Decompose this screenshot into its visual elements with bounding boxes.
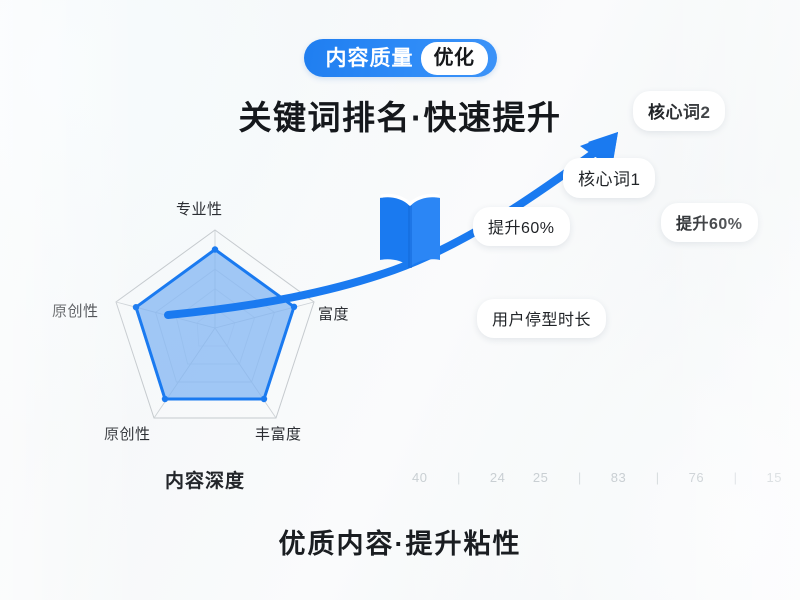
metric-value-1: 40 [412, 470, 427, 485]
radar-point [162, 396, 168, 402]
metric-strip: 40 | 24 25 | 83 | 76 | 15 [412, 466, 782, 488]
metric-value-2: 24 [490, 470, 505, 485]
metric-value-6: 15 [767, 470, 782, 485]
metric-tick-4: | [732, 470, 739, 485]
callout-uplift-right[interactable]: 提升60% [661, 203, 758, 242]
footer-title: 优质内容·提升粘性 [0, 522, 800, 561]
radar-point [133, 304, 139, 310]
badge-row: 内容质量 优化 [0, 39, 800, 77]
radar-axis-label-bottom-left: 原创性 [104, 423, 151, 444]
content-quality-badge[interactable]: 内容质量 优化 [304, 39, 497, 77]
radar-axis-label-bottom-right: 丰富度 [255, 423, 302, 444]
metric-tick-3: | [654, 470, 661, 485]
callout-dwell-time[interactable]: 用户停型时长 [477, 299, 606, 338]
content-depth-note: 内容深度 [165, 466, 245, 493]
metric-value-3: 25 [533, 470, 548, 485]
radar-point [261, 396, 267, 402]
metric-tick-2: | [576, 470, 583, 485]
radar-axis-label-left: 原创性 [52, 300, 99, 321]
callout-keyword-1[interactable]: 核心词1 [563, 158, 655, 198]
badge-pill-label: 优化 [421, 42, 488, 75]
badge-main-label: 内容质量 [326, 48, 414, 69]
callout-uplift-left[interactable]: 提升60% [473, 207, 570, 246]
metric-value-5: 76 [689, 470, 704, 485]
metric-tick-1: | [455, 470, 462, 485]
poster-canvas: 内容质量 优化 关键词排名·快速提升 专业性 富度 丰富度 [0, 0, 800, 600]
open-book-icon [372, 188, 448, 274]
metric-value-4: 83 [611, 470, 626, 485]
callout-keyword-2[interactable]: 核心词2 [633, 91, 725, 131]
